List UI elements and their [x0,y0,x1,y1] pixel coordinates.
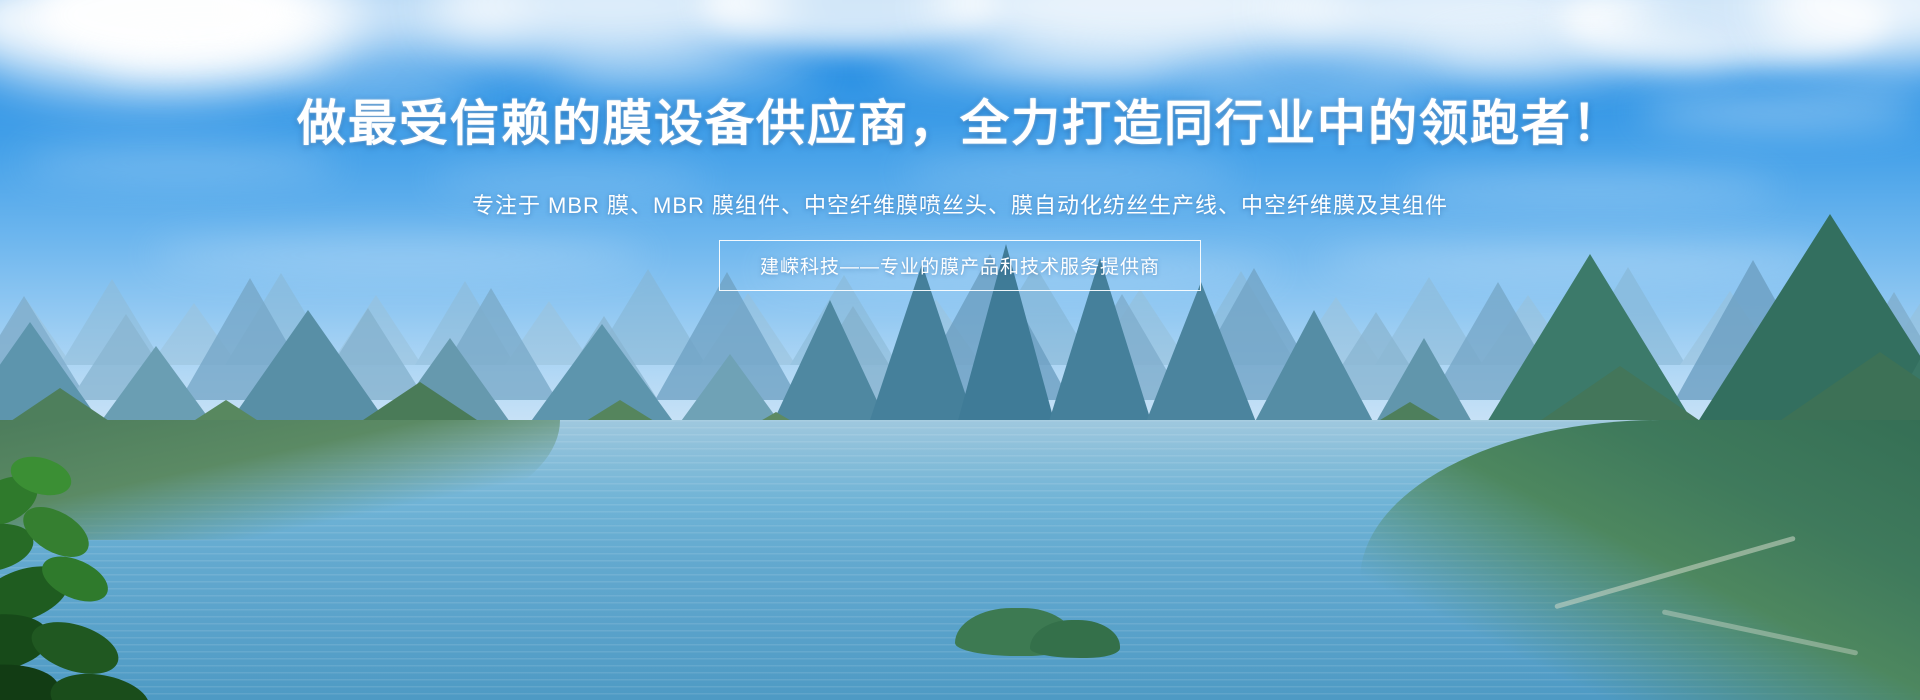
banner-headline: 做最受信赖的膜设备供应商，全力打造同行业中的领跑者！ [0,98,1920,152]
banner-tagline-box: 建嵘科技——专业的膜产品和技术服务提供商 [719,240,1201,291]
banner-text-content: 做最受信赖的膜设备供应商，全力打造同行业中的领跑者！ 专注于 MBR 膜、MBR… [0,0,1920,700]
hero-banner: 做最受信赖的膜设备供应商，全力打造同行业中的领跑者！ 专注于 MBR 膜、MBR… [0,0,1920,700]
banner-subheadline: 专注于 MBR 膜、MBR 膜组件、中空纤维膜喷丝头、膜自动化纺丝生产线、中空纤… [0,188,1920,220]
